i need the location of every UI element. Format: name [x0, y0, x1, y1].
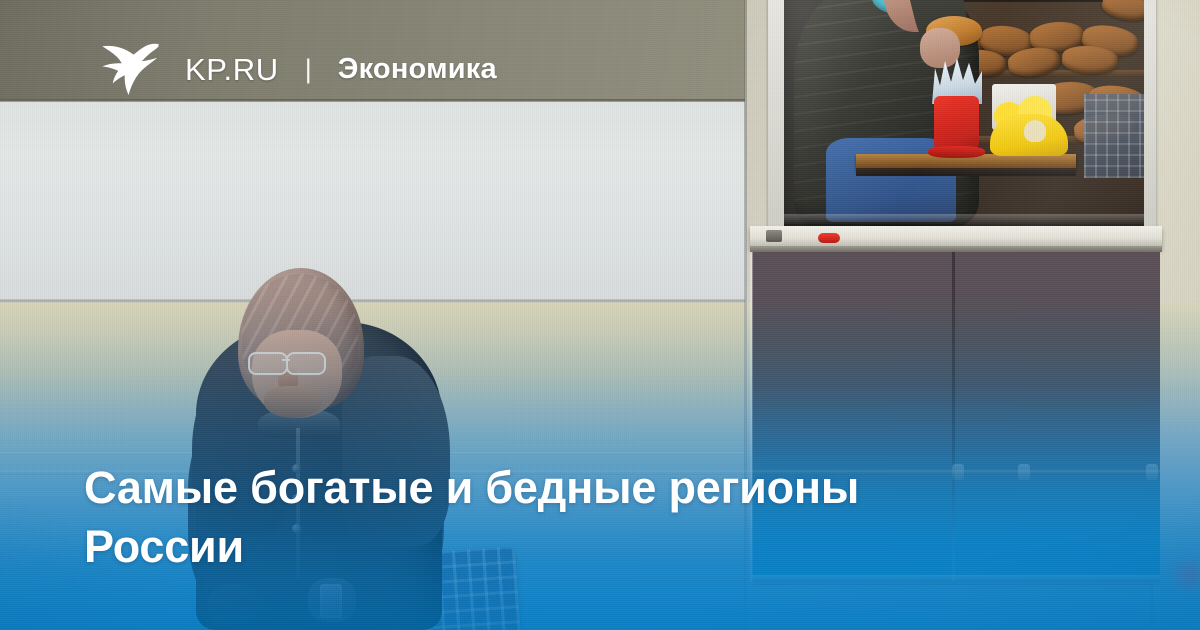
window-hinge — [766, 230, 782, 242]
brand-bar[interactable]: KP.RU | Экономика — [96, 38, 497, 100]
brand-section: Экономика — [338, 55, 497, 84]
page-title: Самые богатые и бедные регионы России — [84, 459, 984, 576]
pipe-clip — [1018, 464, 1030, 480]
woman-phone — [320, 584, 342, 618]
plaid-reflection — [1084, 94, 1144, 178]
woman-glasses-right-lens — [286, 352, 326, 375]
bakery-window-glass — [784, 0, 1144, 226]
counter-shadow — [856, 168, 1076, 176]
woman-chin — [264, 386, 322, 418]
window-sill — [750, 226, 1162, 248]
pipe-clip — [1146, 464, 1158, 480]
red-cup-base — [928, 146, 985, 158]
customer-hand-lower — [920, 28, 960, 68]
kiosk-base-bottom — [752, 575, 1160, 585]
brand-separator: | — [305, 56, 312, 83]
social-card: KP.RU | Экономика Самые богатые и бедные… — [0, 0, 1200, 630]
yellow-cloud-opening — [1024, 120, 1046, 142]
red-cap-object — [818, 233, 840, 243]
swallow-bird-icon — [96, 38, 160, 100]
woman-glasses-bridge — [282, 359, 290, 361]
woman-glove — [208, 584, 260, 624]
brand-name: KP.RU — [185, 54, 279, 85]
woman-glasses-left-lens — [248, 352, 288, 375]
glass-lower-edge — [784, 214, 1144, 226]
